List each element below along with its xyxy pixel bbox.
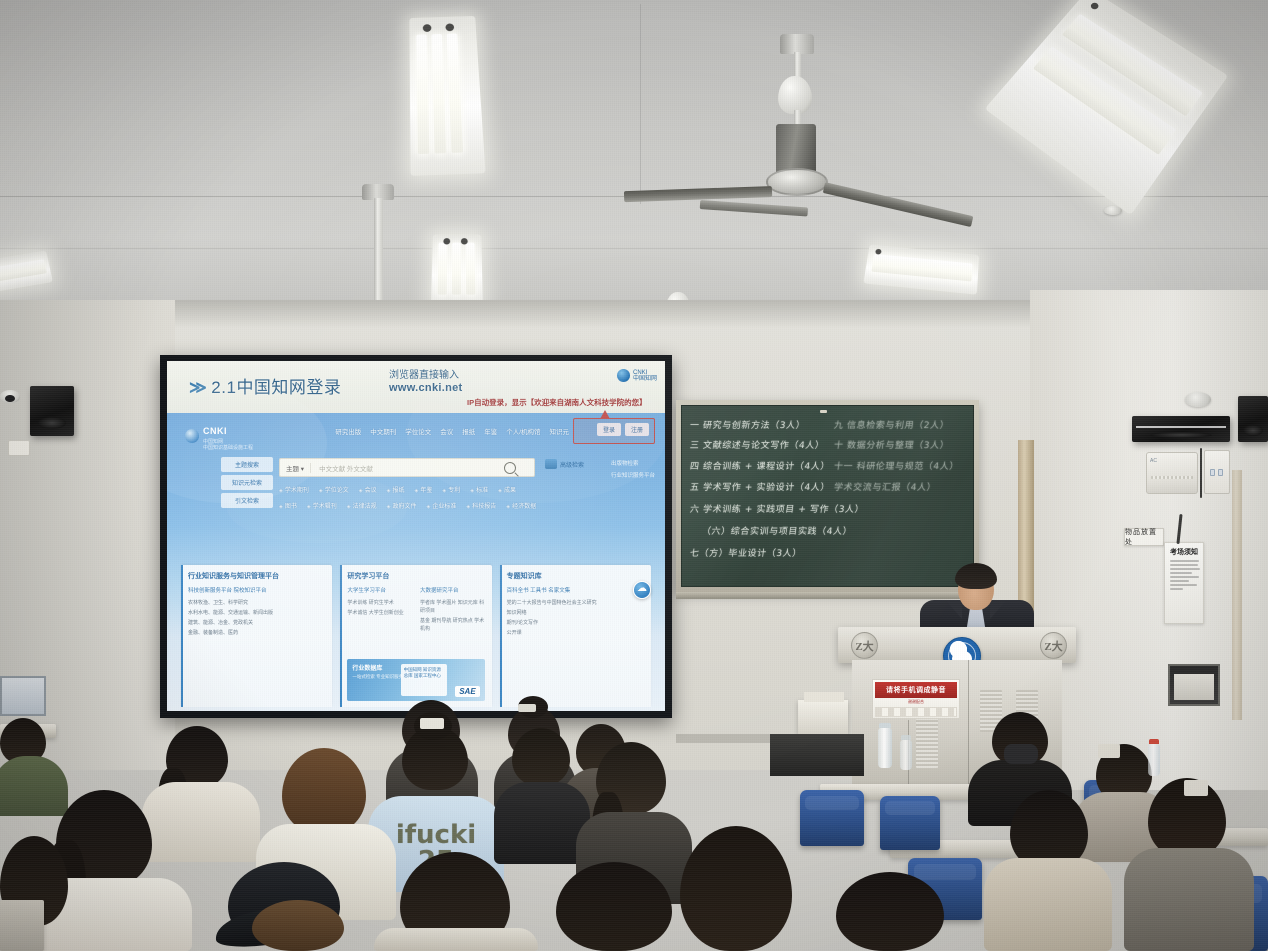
ac-brand-badge: AC (1150, 458, 1157, 464)
cnki-brand-abbr: CNKI (203, 426, 227, 436)
cnki-side-links[interactable]: 出版物检索 行业知识服务平台 (611, 459, 655, 483)
chat-bubble-icon[interactable] (633, 581, 651, 599)
speaker-hair (955, 563, 997, 589)
desk-foreground-left (0, 900, 44, 951)
silent-phone-sign: 请将手机调成静音 谢谢配合 (872, 679, 960, 719)
notice-title: 考场须知 (1168, 547, 1200, 557)
side-tab-0[interactable]: 主题搜索 (221, 457, 273, 472)
chip-1-2[interactable]: 会议 (359, 485, 377, 494)
chip-2-1[interactable]: 学术辑刊 (307, 501, 337, 510)
chalk-row-5-left: （六）综合实训与项目实践（4人） (701, 524, 853, 537)
search-field-selector-label: 主题 (286, 466, 299, 473)
podium-seal-left: Z大 (851, 632, 878, 659)
chip-2-6[interactable]: 经济数据 (506, 501, 536, 510)
chip-1-1[interactable]: 学位论文 (319, 485, 349, 494)
storage-sign: 物品放置处 (1124, 528, 1164, 546)
chip-1-3[interactable]: 报纸 (387, 485, 405, 494)
air-conditioner: AC (1146, 452, 1198, 494)
panel-2-lead: 百科全书 工具书 名家文集 (507, 587, 644, 595)
panel-1-col-0-line-0: 学术训练 研究生学术 (347, 599, 412, 607)
student-torso-f4 (374, 928, 538, 951)
cnki-nav-item-1[interactable]: 中文期刊 (370, 426, 396, 436)
chair-r1[interactable] (800, 790, 864, 846)
silent-sign-main: 请将手机调成静音 (875, 682, 957, 698)
panel-1-title: 研究学习平台 (347, 571, 484, 581)
chip-1-5[interactable]: 专利 (442, 485, 460, 494)
chip-1-7[interactable]: 成果 (498, 485, 516, 494)
side-tab-2[interactable]: 引文检索 (221, 493, 273, 508)
panel-1-col-0-line-1: 学术诚信 大学生创新创业 (347, 609, 412, 617)
chalk-row-2-right: 十一 科研伦理与规范（4人） (833, 459, 960, 472)
chalk-row-2-left: 四 综合训练 + 课程设计（4人） (689, 459, 831, 472)
chair-r2[interactable] (880, 796, 940, 850)
cnki-nav-item-0[interactable]: 研究出版 (335, 426, 361, 436)
panel-2-line-2: 期刊/论文写作 (507, 619, 644, 627)
chalk-row-6-left: 七（方）毕业设计（3人） (689, 546, 803, 559)
wall-outlet-left (8, 440, 30, 456)
chip-2-3[interactable]: 政府文件 (387, 501, 417, 510)
student-torso-m1 (142, 782, 260, 862)
chalk-row-3-right: 学术交流与汇报（4人） (833, 480, 937, 493)
storage-sign-label: 物品放置处 (1125, 527, 1163, 547)
chalk-tray (676, 592, 979, 599)
exam-notice-paper: 考场须知 (1164, 542, 1204, 624)
search-placeholder: 中文文献 外文文献 (311, 463, 504, 473)
panel-2-line-1: 知识网络 (507, 609, 644, 617)
left-wall-panel (0, 676, 46, 716)
panel-1-col-1-heading: 大数据研究平台 (420, 587, 485, 595)
wall-speaker-left (30, 386, 74, 436)
ceiling-speaker-round (1185, 392, 1211, 407)
cnki-chip-row-2[interactable]: 图书 学术辑刊 法律法规 政府文件 企业标准 科技报告 经济数据 (279, 501, 629, 510)
fluorescent-light-top-left (409, 16, 485, 176)
cnki-nav-item-4[interactable]: 报纸 (462, 426, 475, 436)
side-link-1[interactable]: 行业知识服务平台 (611, 471, 655, 479)
cnki-nav-item-6[interactable]: 个人/机构馆 (506, 426, 540, 436)
cnki-brand[interactable]: CNKI 中国知网 中国知识基础设施工程 (185, 421, 253, 451)
student-torso-m6 (984, 858, 1112, 951)
cnki-logo-icon (185, 429, 199, 443)
silent-sign-sub: 谢谢配合 (875, 699, 957, 705)
podium-seal-right: Z大 (1040, 632, 1067, 659)
blackboard-surface: 一 研究与创新方法（3人） 九 信息检索与利用（2人） 三 文献综述与论文写作（… (681, 405, 974, 587)
smoke-detector-icon-2 (1104, 206, 1122, 215)
student-head-f5 (556, 862, 672, 951)
cnki-nav-item-2[interactable]: 学位论文 (405, 426, 431, 436)
panel-1-col-1-line-1: 基金 期刊导航 研究热点 学术机构 (420, 617, 485, 633)
chip-2-2[interactable]: 法律法规 (347, 501, 377, 510)
hair-clip-m2 (420, 718, 444, 729)
cnki-nav-item-3[interactable]: 会议 (440, 426, 453, 436)
cnki-top-bar: CNKI 中国知网 中国知识基础设施工程 研究出版 中文期刊 学位论文 会议 报… (167, 413, 665, 453)
hair-clip-b2 (518, 704, 536, 712)
login-highlight-box (573, 418, 655, 444)
student-head-m3 (512, 728, 570, 786)
cnki-panels: 行业知识服务与知识管理平台 科技创新服务平台 院校知识平台 农林牧渔、卫生、科学… (181, 565, 651, 707)
blackboard: 一 研究与创新方法（3人） 九 信息检索与利用（2人） 三 文献综述与论文写作（… (676, 400, 979, 592)
student-head-f7 (836, 872, 944, 951)
panel-industry-knowledge[interactable]: 行业知识服务与知识管理平台 科技创新服务平台 院校知识平台 农林牧渔、卫生、科学… (181, 565, 332, 707)
fluorescent-light-mid-left (431, 235, 483, 304)
promo-title: 行业数据库 (352, 663, 382, 672)
chalk-row-0-right: 九 信息检索与利用（2人） (833, 418, 950, 431)
presentation-slide: ≫2.1中国知网登录 浏览器直接输入 www.cnki.net IP自动登录，显… (167, 361, 665, 711)
book-stack-2 (804, 692, 844, 702)
search-icon[interactable] (504, 462, 516, 474)
chalk-row-3-left: 五 学术写作 + 实验设计（4人） (689, 480, 831, 493)
chip-1-4[interactable]: 年鉴 (415, 485, 433, 494)
chip-2-0[interactable]: 图书 (279, 501, 297, 510)
promo-card: 中国知网 知识资源总库 国家工程中心 (401, 664, 447, 696)
chip-2-4[interactable]: 企业标准 (427, 501, 457, 510)
cnki-corner-line2: 中国知网 (633, 376, 657, 382)
hair-clip-m7 (1184, 780, 1208, 796)
advanced-search-label: 高级检索 (560, 460, 584, 469)
water-bottle-podium-2 (900, 740, 912, 770)
right-wall-panel (1174, 674, 1214, 700)
podium-seal-right-label: Z大 (1044, 638, 1062, 654)
dome-camera-icon-left (0, 390, 20, 403)
cnki-search-row: 主题搜索 知识元检索 引文检索 主题 ▾ 中文文献 外文文献 高级检索 (167, 457, 665, 481)
panel-0-lead: 科技创新服务平台 院校知识平台 (188, 587, 325, 595)
classroom-photo: AC 物品放置处 考场须知 ≫2.1中国知网登录 浏览器直接输入 (0, 0, 1268, 951)
cnki-chip-row-1[interactable]: 学术期刊 学位论文 会议 报纸 年鉴 专利 标准 成果 (279, 485, 629, 494)
projection-screen: ≫2.1中国知网登录 浏览器直接输入 www.cnki.net IP自动登录，显… (160, 355, 672, 718)
panel-2-line-0: 党的二十大报告与中国特色社会主义研究 (507, 599, 644, 607)
panel-2-line-3: 公开课 (507, 629, 644, 637)
wall-speaker-right (1238, 396, 1268, 442)
light-switch-panel[interactable] (1204, 450, 1230, 494)
cnki-website-screenshot: CNKI 中国知网 中国知识基础设施工程 研究出版 中文期刊 学位论文 会议 报… (167, 413, 665, 711)
side-table-dark (770, 734, 864, 776)
cnki-promo-banner[interactable]: 行业数据库 一站式检索 专业知识服务 数据智能分析 中国知网 知识资源总库 国家… (347, 659, 484, 701)
promo-badge: SAE (455, 686, 479, 697)
cnki-brand-tagline: 中国知识基础设施工程 (203, 445, 253, 451)
advanced-search-icon (545, 459, 557, 469)
panel-0-line-3: 金融、装备制造、医药 (188, 629, 325, 637)
panel-special-topic-db[interactable]: 专题知识库 百科全书 工具书 名家文集 党的二十大报告与中国特色社会主义研究 知… (500, 565, 651, 707)
search-input[interactable]: 主题 ▾ 中文文献 外文文献 (279, 458, 535, 477)
wall-cable (1200, 448, 1202, 498)
cnki-nav-item-7[interactable]: 知识元 (550, 426, 570, 436)
chip-1-0[interactable]: 学术期刊 (279, 485, 309, 494)
panel-0-line-1: 水利水电、能源、交通运输、新闻出版 (188, 609, 325, 617)
search-field-selector[interactable]: 主题 ▾ (280, 463, 311, 473)
student-head-f3 (252, 900, 344, 951)
cnki-nav-item-5[interactable]: 年鉴 (484, 426, 497, 436)
panel-1-col-0-heading: 大学生学习平台 (347, 587, 412, 595)
chalk-row-4-left: 六 学术训练 + 实践项目 + 写作（3人） (689, 502, 865, 515)
student-head-f6 (680, 826, 792, 951)
water-bottle-audience (1148, 744, 1160, 776)
panel-research-learning[interactable]: 研究学习平台 大学生学习平台 学术训练 研究生学术 学术诚信 大学生创新创业 大… (340, 565, 491, 707)
water-bottle-podium (878, 728, 892, 768)
door-frame-right (1232, 470, 1242, 720)
panel-1-col-1-line-0: 学者库 学术图片 知识元库 科研项目 (420, 599, 485, 615)
chip-1-6[interactable]: 标准 (470, 485, 488, 494)
book-stack (798, 700, 848, 734)
student-torso-m7 (1124, 848, 1254, 951)
side-tab-1[interactable]: 知识元检索 (221, 475, 273, 490)
highlight-arrow-icon (600, 410, 610, 419)
podium-seal-left-label: Z大 (855, 638, 873, 654)
cnki-nav[interactable]: 研究出版 中文期刊 学位论文 会议 报纸 年鉴 个人/机构馆 知识元 (335, 426, 569, 436)
side-link-0[interactable]: 出版物检索 (611, 459, 655, 467)
advanced-search-button[interactable]: 高级检索 (545, 459, 584, 469)
chalk-row-0-left: 一 研究与创新方法（3人） (689, 418, 806, 431)
chalk-row-1-left: 三 文献综述与论文写作（4人） (689, 438, 825, 451)
panel-2-title: 专题知识库 (507, 571, 644, 581)
podium-vent-mid (916, 712, 938, 768)
panel-0-title: 行业知识服务与知识管理平台 (188, 571, 325, 581)
panel-0-line-0: 农林牧渔、卫生、科学研究 (188, 599, 325, 607)
chip-2-5[interactable]: 科技报告 (466, 501, 496, 510)
wall-soundbar-right (1132, 416, 1230, 442)
student-torso-b6 (0, 756, 68, 816)
panel-0-line-2: 建筑、能源、冶金、党政机关 (188, 619, 325, 627)
silent-sign-grid (875, 707, 957, 717)
student-head-m5 (282, 748, 366, 834)
cnki-side-tabs[interactable]: 主题搜索 知识元检索 引文检索 (221, 457, 273, 511)
chalk-row-1-right: 十 数据分析与整理（3人） (833, 438, 950, 451)
face-mask-b4 (1004, 744, 1038, 764)
hair-clip-b5 (1098, 744, 1120, 758)
